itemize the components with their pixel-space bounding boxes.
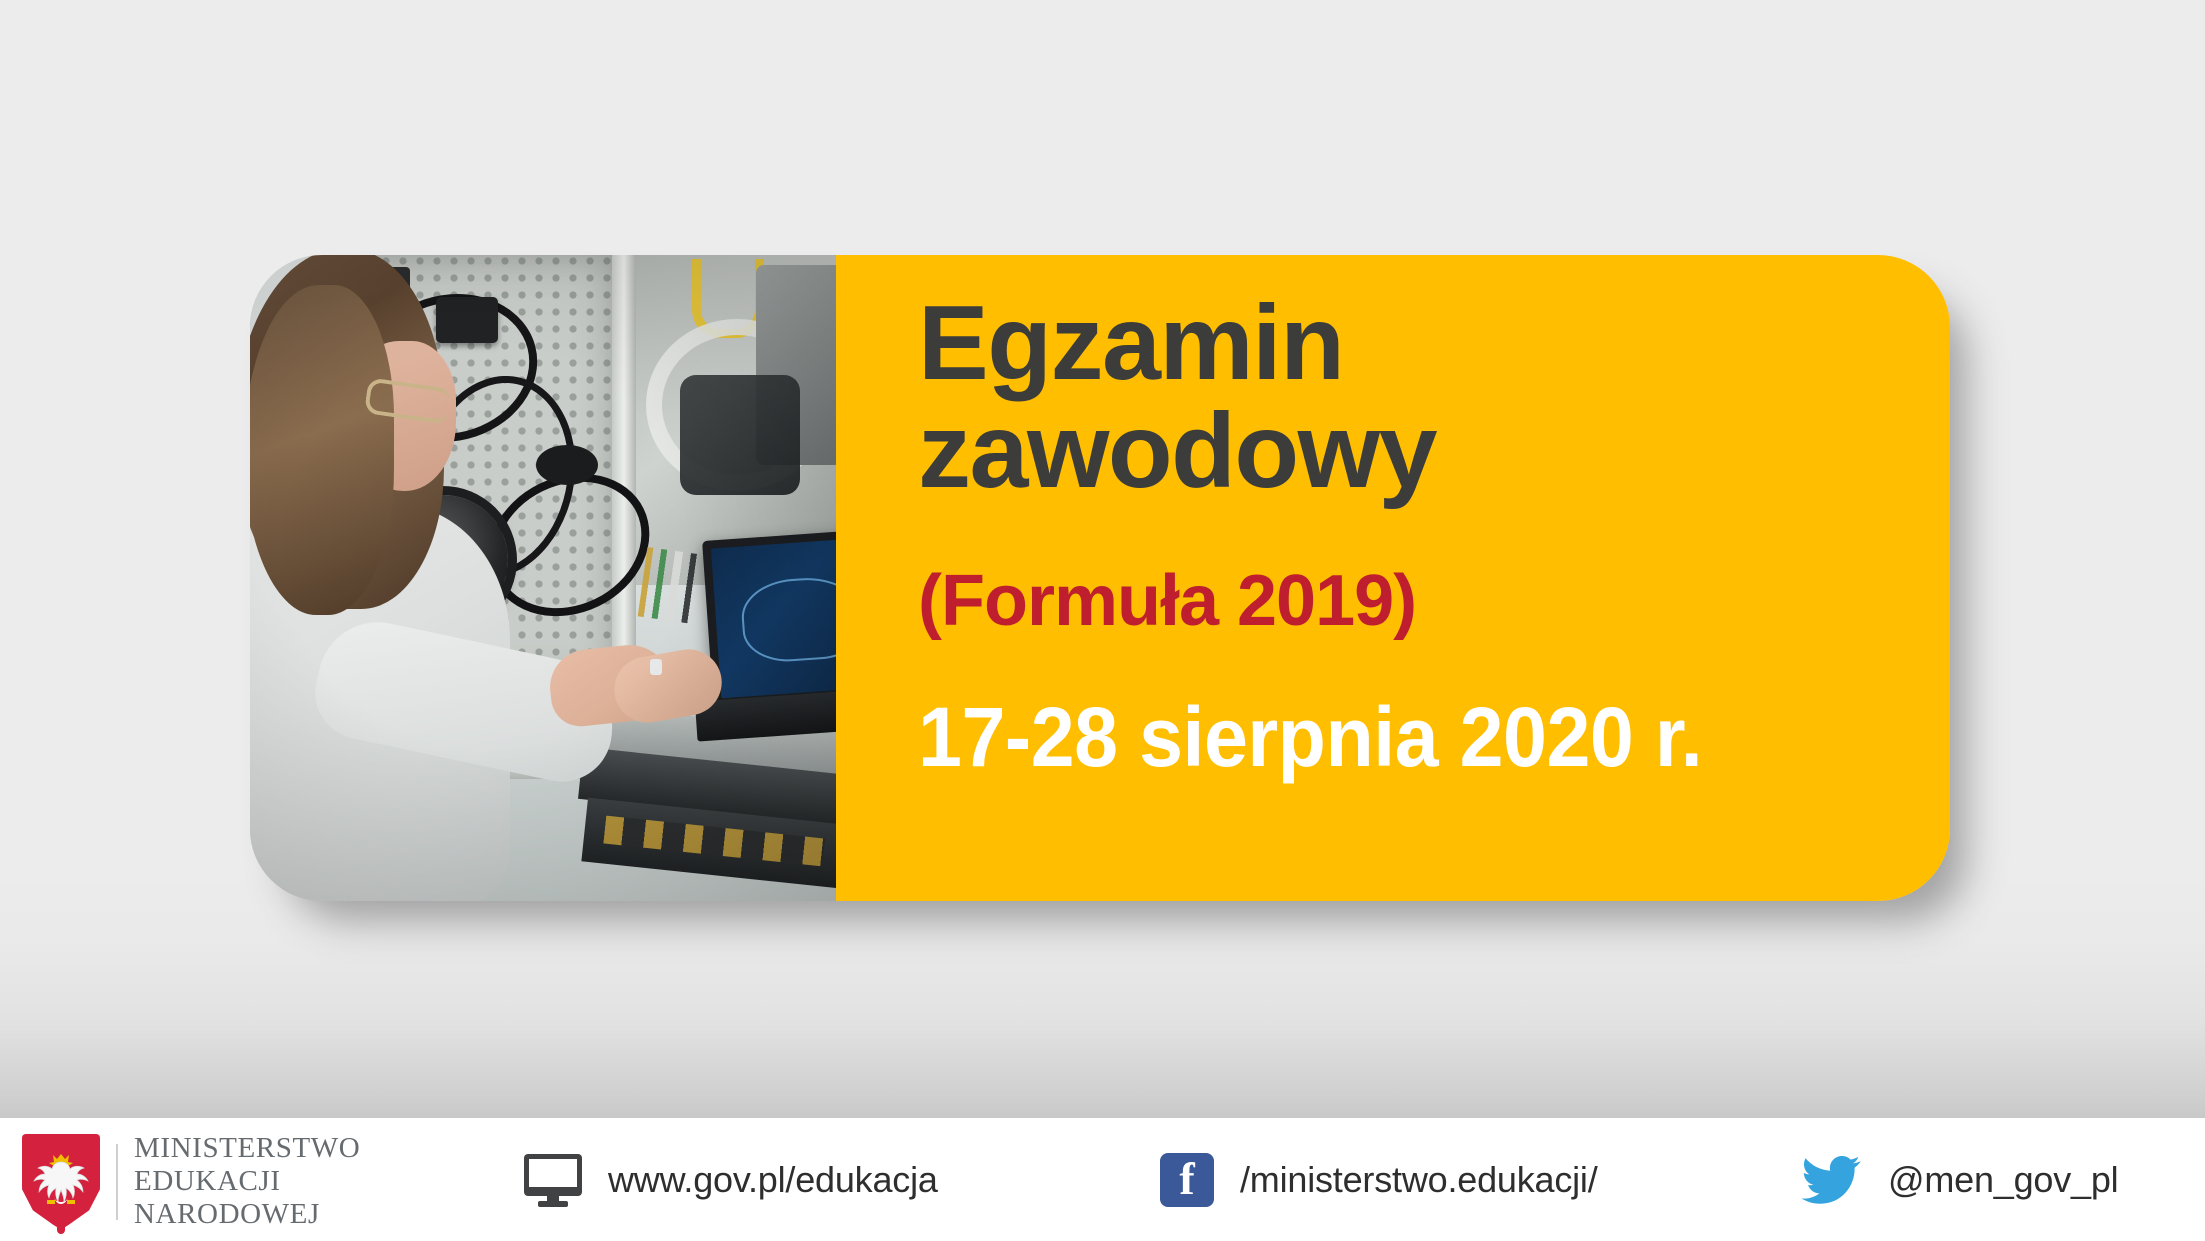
hero-title-line2: zawodowy — [918, 397, 1898, 505]
ministry-logo[interactable]: MINISTERSTWO EDUKACJI NARODOWEJ — [22, 1132, 360, 1231]
hero-text-panel: Egzamin zawodowy (Formuła 2019) 17-28 si… — [836, 255, 1950, 901]
polish-eagle-emblem — [22, 1134, 100, 1230]
eagle-icon — [30, 1146, 92, 1218]
hero-title: Egzamin zawodowy — [918, 289, 1898, 505]
link-twitter[interactable]: @men_gov_pl — [1800, 1154, 2118, 1206]
hero-card: Egzamin zawodowy (Formuła 2019) 17-28 si… — [250, 255, 1950, 901]
footer-bar: MINISTERSTWO EDUKACJI NARODOWEJ www.gov.… — [0, 1118, 2205, 1241]
hero-photo — [250, 255, 836, 901]
ministry-name: MINISTERSTWO EDUKACJI NARODOWEJ — [134, 1132, 360, 1231]
logo-divider — [116, 1144, 118, 1220]
twitter-label: @men_gov_pl — [1888, 1159, 2118, 1201]
hero-date: 17-28 sierpnia 2020 r. — [918, 695, 1702, 779]
photo-vignette — [250, 255, 836, 901]
link-website[interactable]: www.gov.pl/edukacja — [524, 1154, 938, 1206]
facebook-icon — [1160, 1153, 1214, 1207]
twitter-icon — [1800, 1154, 1862, 1206]
poster-canvas: Egzamin zawodowy (Formuła 2019) 17-28 si… — [0, 0, 2205, 1241]
monitor-icon — [524, 1154, 582, 1206]
facebook-label: /ministerstwo.edukacji/ — [1240, 1159, 1598, 1201]
hero-title-line1: Egzamin — [918, 284, 1343, 402]
link-facebook[interactable]: /ministerstwo.edukacji/ — [1160, 1153, 1598, 1207]
website-label: www.gov.pl/edukacja — [608, 1159, 938, 1201]
hero-subtitle: (Formuła 2019) — [918, 565, 1416, 637]
